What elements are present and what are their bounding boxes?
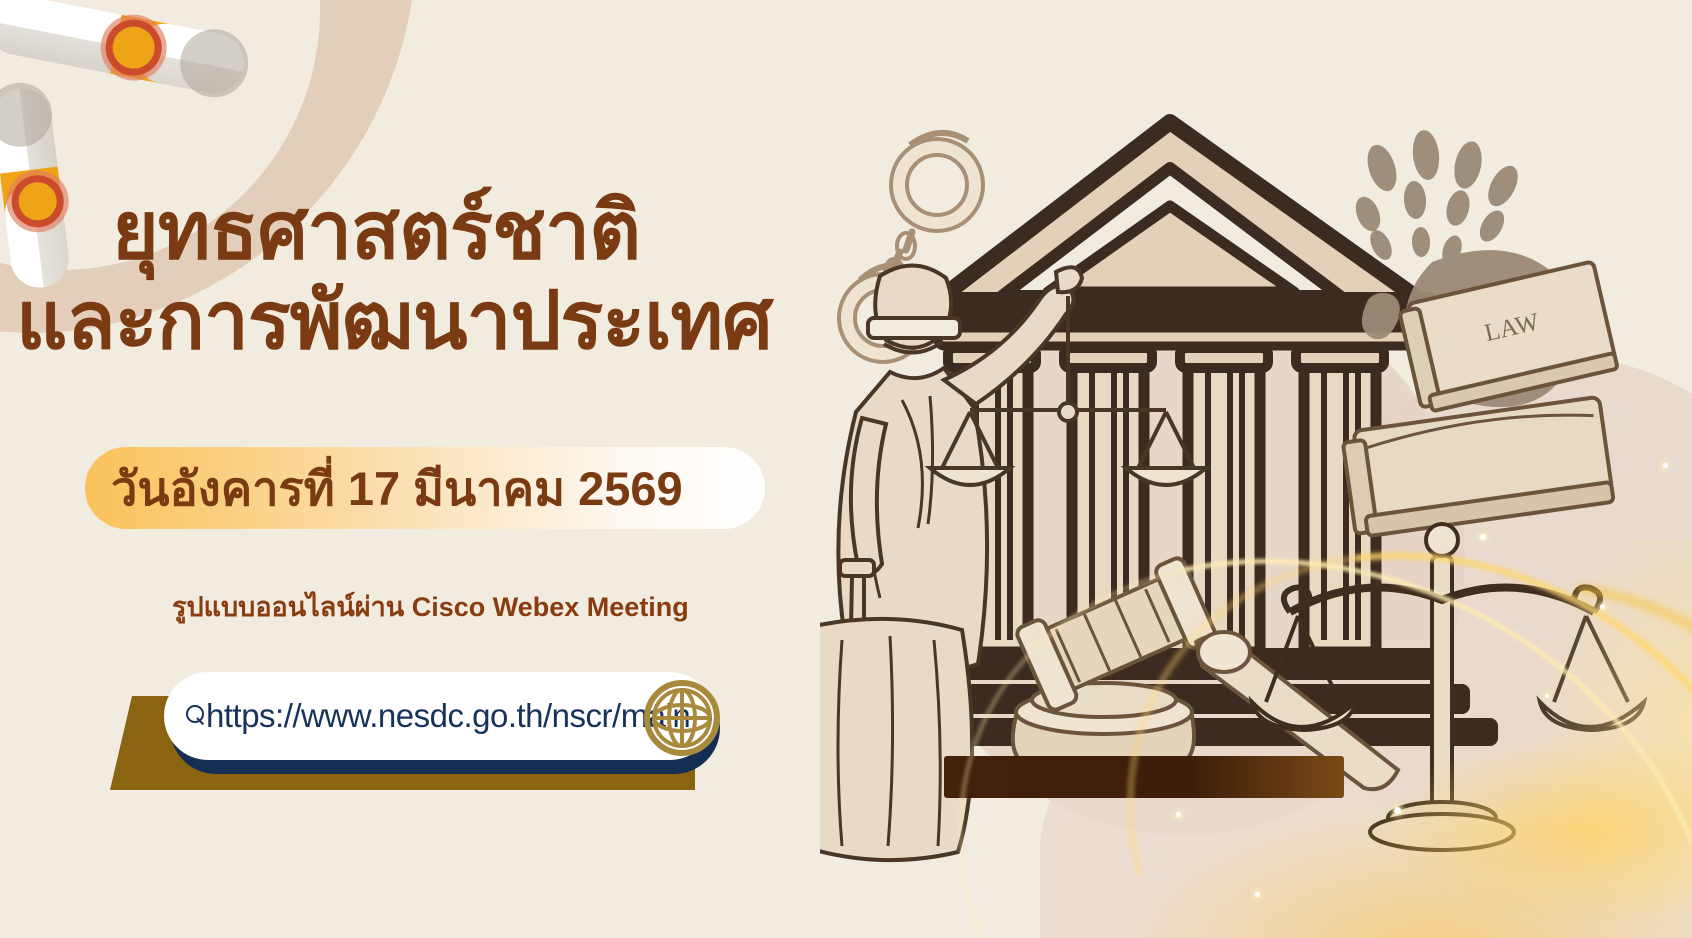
event-date-text: วันอังคารที่ 17 มีนาคม 2569 — [85, 451, 683, 526]
title-line-2: และการพัฒนาประเทศ — [16, 276, 856, 366]
title-line-1: ยุทธศาสตร์ชาติ — [16, 186, 856, 276]
event-date-badge: วันอังคารที่ 17 มีนาคม 2569 — [85, 447, 765, 529]
page-title: ยุทธศาสตร์ชาติ และการพัฒนาประเทศ — [16, 186, 856, 365]
courthouse-base-bar — [944, 756, 1344, 798]
url-pill[interactable]: https://www.nesdc.go.th/nscr/main — [164, 672, 714, 760]
website-link-group[interactable]: https://www.nesdc.go.th/nscr/main — [110, 660, 750, 790]
text-content-column: ยุทธศาสตร์ชาติ และการพัฒนาประเทศ วันอังค… — [0, 0, 860, 938]
globe-icon — [644, 680, 720, 756]
event-format-subtitle: รูปแบบออนไลน์ผ่าน Cisco Webex Meeting — [172, 585, 689, 628]
search-icon — [186, 705, 208, 727]
banner-canvas: LAW — [0, 0, 1692, 938]
url-text: https://www.nesdc.go.th/nscr/main — [206, 697, 690, 735]
